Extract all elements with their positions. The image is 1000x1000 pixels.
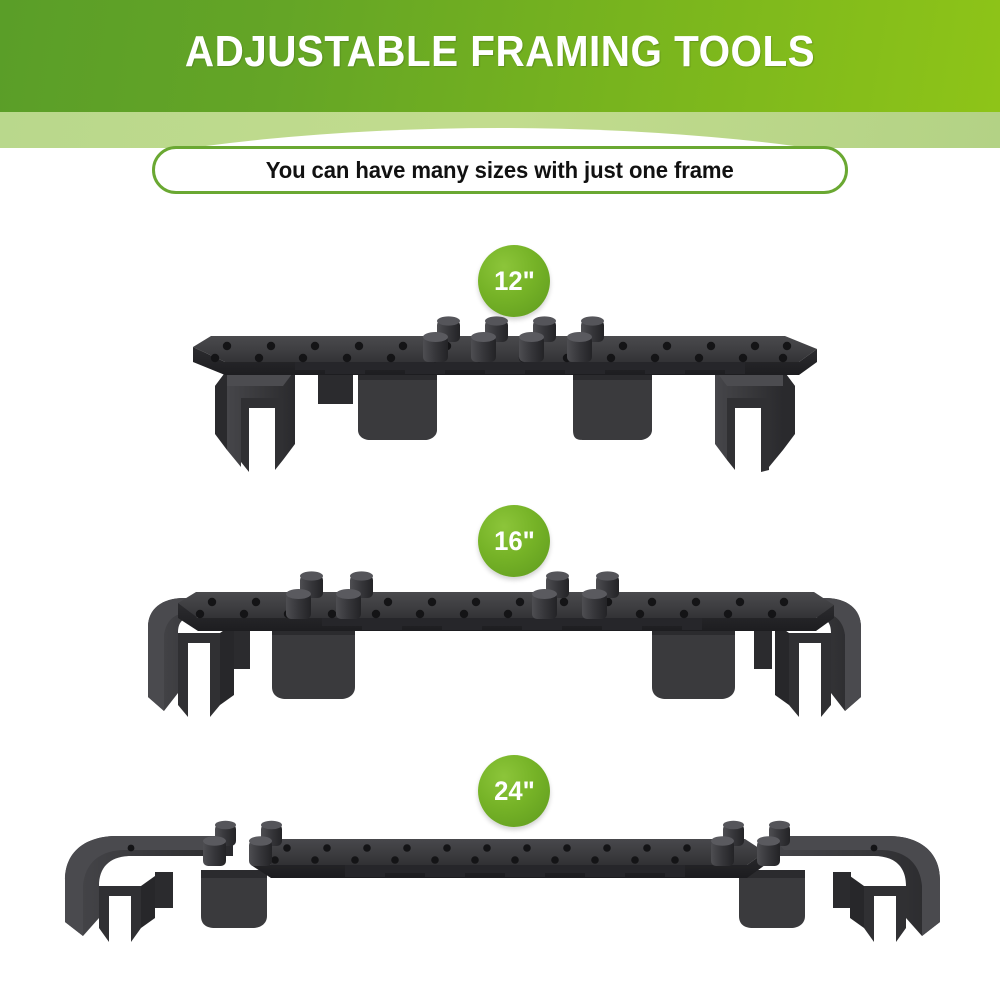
hanging-tab-2 [573, 372, 652, 440]
perforated-bar [193, 336, 817, 375]
product-image-12in [185, 312, 825, 477]
hanging-tab-right [739, 870, 851, 928]
subtitle-pill: You can have many sizes with just one fr… [152, 146, 848, 194]
header-accent-band [0, 112, 1000, 148]
product-image-24in [55, 812, 950, 952]
hanging-tab-left [155, 870, 267, 928]
size-badge-label: 12" [494, 266, 535, 297]
perforated-bar [251, 839, 765, 878]
size-badge-label: 16" [494, 526, 535, 557]
hanging-tab-1 [358, 372, 437, 440]
u-bracket-left [215, 370, 295, 472]
page-title: ADJUSTABLE FRAMING TOOLS [40, 24, 960, 80]
u-bracket-right [715, 370, 795, 472]
perforated-bar [178, 592, 834, 631]
product-image-16in [142, 565, 867, 735]
header-arc-decoration [0, 128, 1000, 148]
size-badge-label: 24" [494, 776, 535, 807]
bolt-cluster-left [203, 821, 282, 866]
size-badge-12: 12" [478, 245, 550, 317]
hanging-tab-left [234, 625, 355, 699]
infographic-page: ADJUSTABLE FRAMING TOOLS You can have ma… [0, 0, 1000, 1000]
header-banner: ADJUSTABLE FRAMING TOOLS [0, 0, 1000, 112]
subtitle-text: You can have many sizes with just one fr… [266, 157, 734, 184]
hanging-tab-right [652, 625, 772, 699]
